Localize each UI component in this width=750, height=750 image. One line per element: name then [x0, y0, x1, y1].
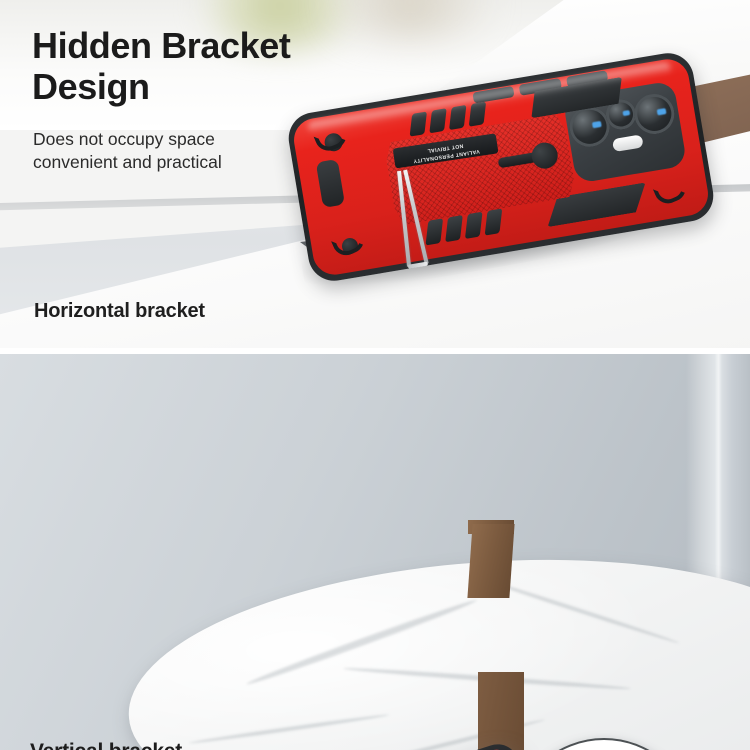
lens-glint: [623, 110, 630, 116]
page-headline: Hidden Bracket Design: [32, 26, 362, 107]
top-panel: VALIANT PERSONALITY NOT TRIVIAL Hidden B…: [0, 0, 750, 348]
lanyard-hook-bottom-left: [331, 228, 368, 259]
lens-glint: [592, 121, 602, 129]
armour-plate-left: [316, 159, 345, 208]
vent-stripe: [449, 105, 466, 130]
table-leg-front: [478, 672, 524, 750]
vent-stripe: [410, 111, 427, 136]
vent-stripe: [429, 108, 446, 133]
lens-glint: [657, 108, 667, 116]
subhead-line-1: Does not occupy space: [33, 128, 222, 151]
camera-lens-tele: [631, 91, 677, 137]
bottom-panel: Vertical bracket: [0, 354, 750, 750]
case-button-1: [472, 85, 515, 103]
product-banner: VALIANT PERSONALITY NOT TRIVIAL Hidden B…: [0, 0, 750, 750]
camera-flash: [612, 134, 644, 152]
case-button-3: [566, 70, 609, 88]
lanyard-hook-bottom-right: [653, 177, 690, 208]
marble-vein: [188, 713, 388, 745]
vent-stripe: [485, 208, 503, 235]
vent-stripe: [465, 212, 483, 239]
caption-horizontal-bracket: Horizontal bracket: [34, 300, 205, 323]
vent-stripe: [469, 102, 486, 127]
vent-stripe: [445, 215, 463, 242]
table-leg-rear: [467, 524, 514, 598]
subhead-line-2: convenient and practical: [33, 151, 222, 174]
case-button-2: [519, 78, 562, 96]
page-subheadline: Does not occupy space convenient and pra…: [33, 128, 222, 174]
caption-vertical-bracket: Vertical bracket: [30, 740, 182, 750]
